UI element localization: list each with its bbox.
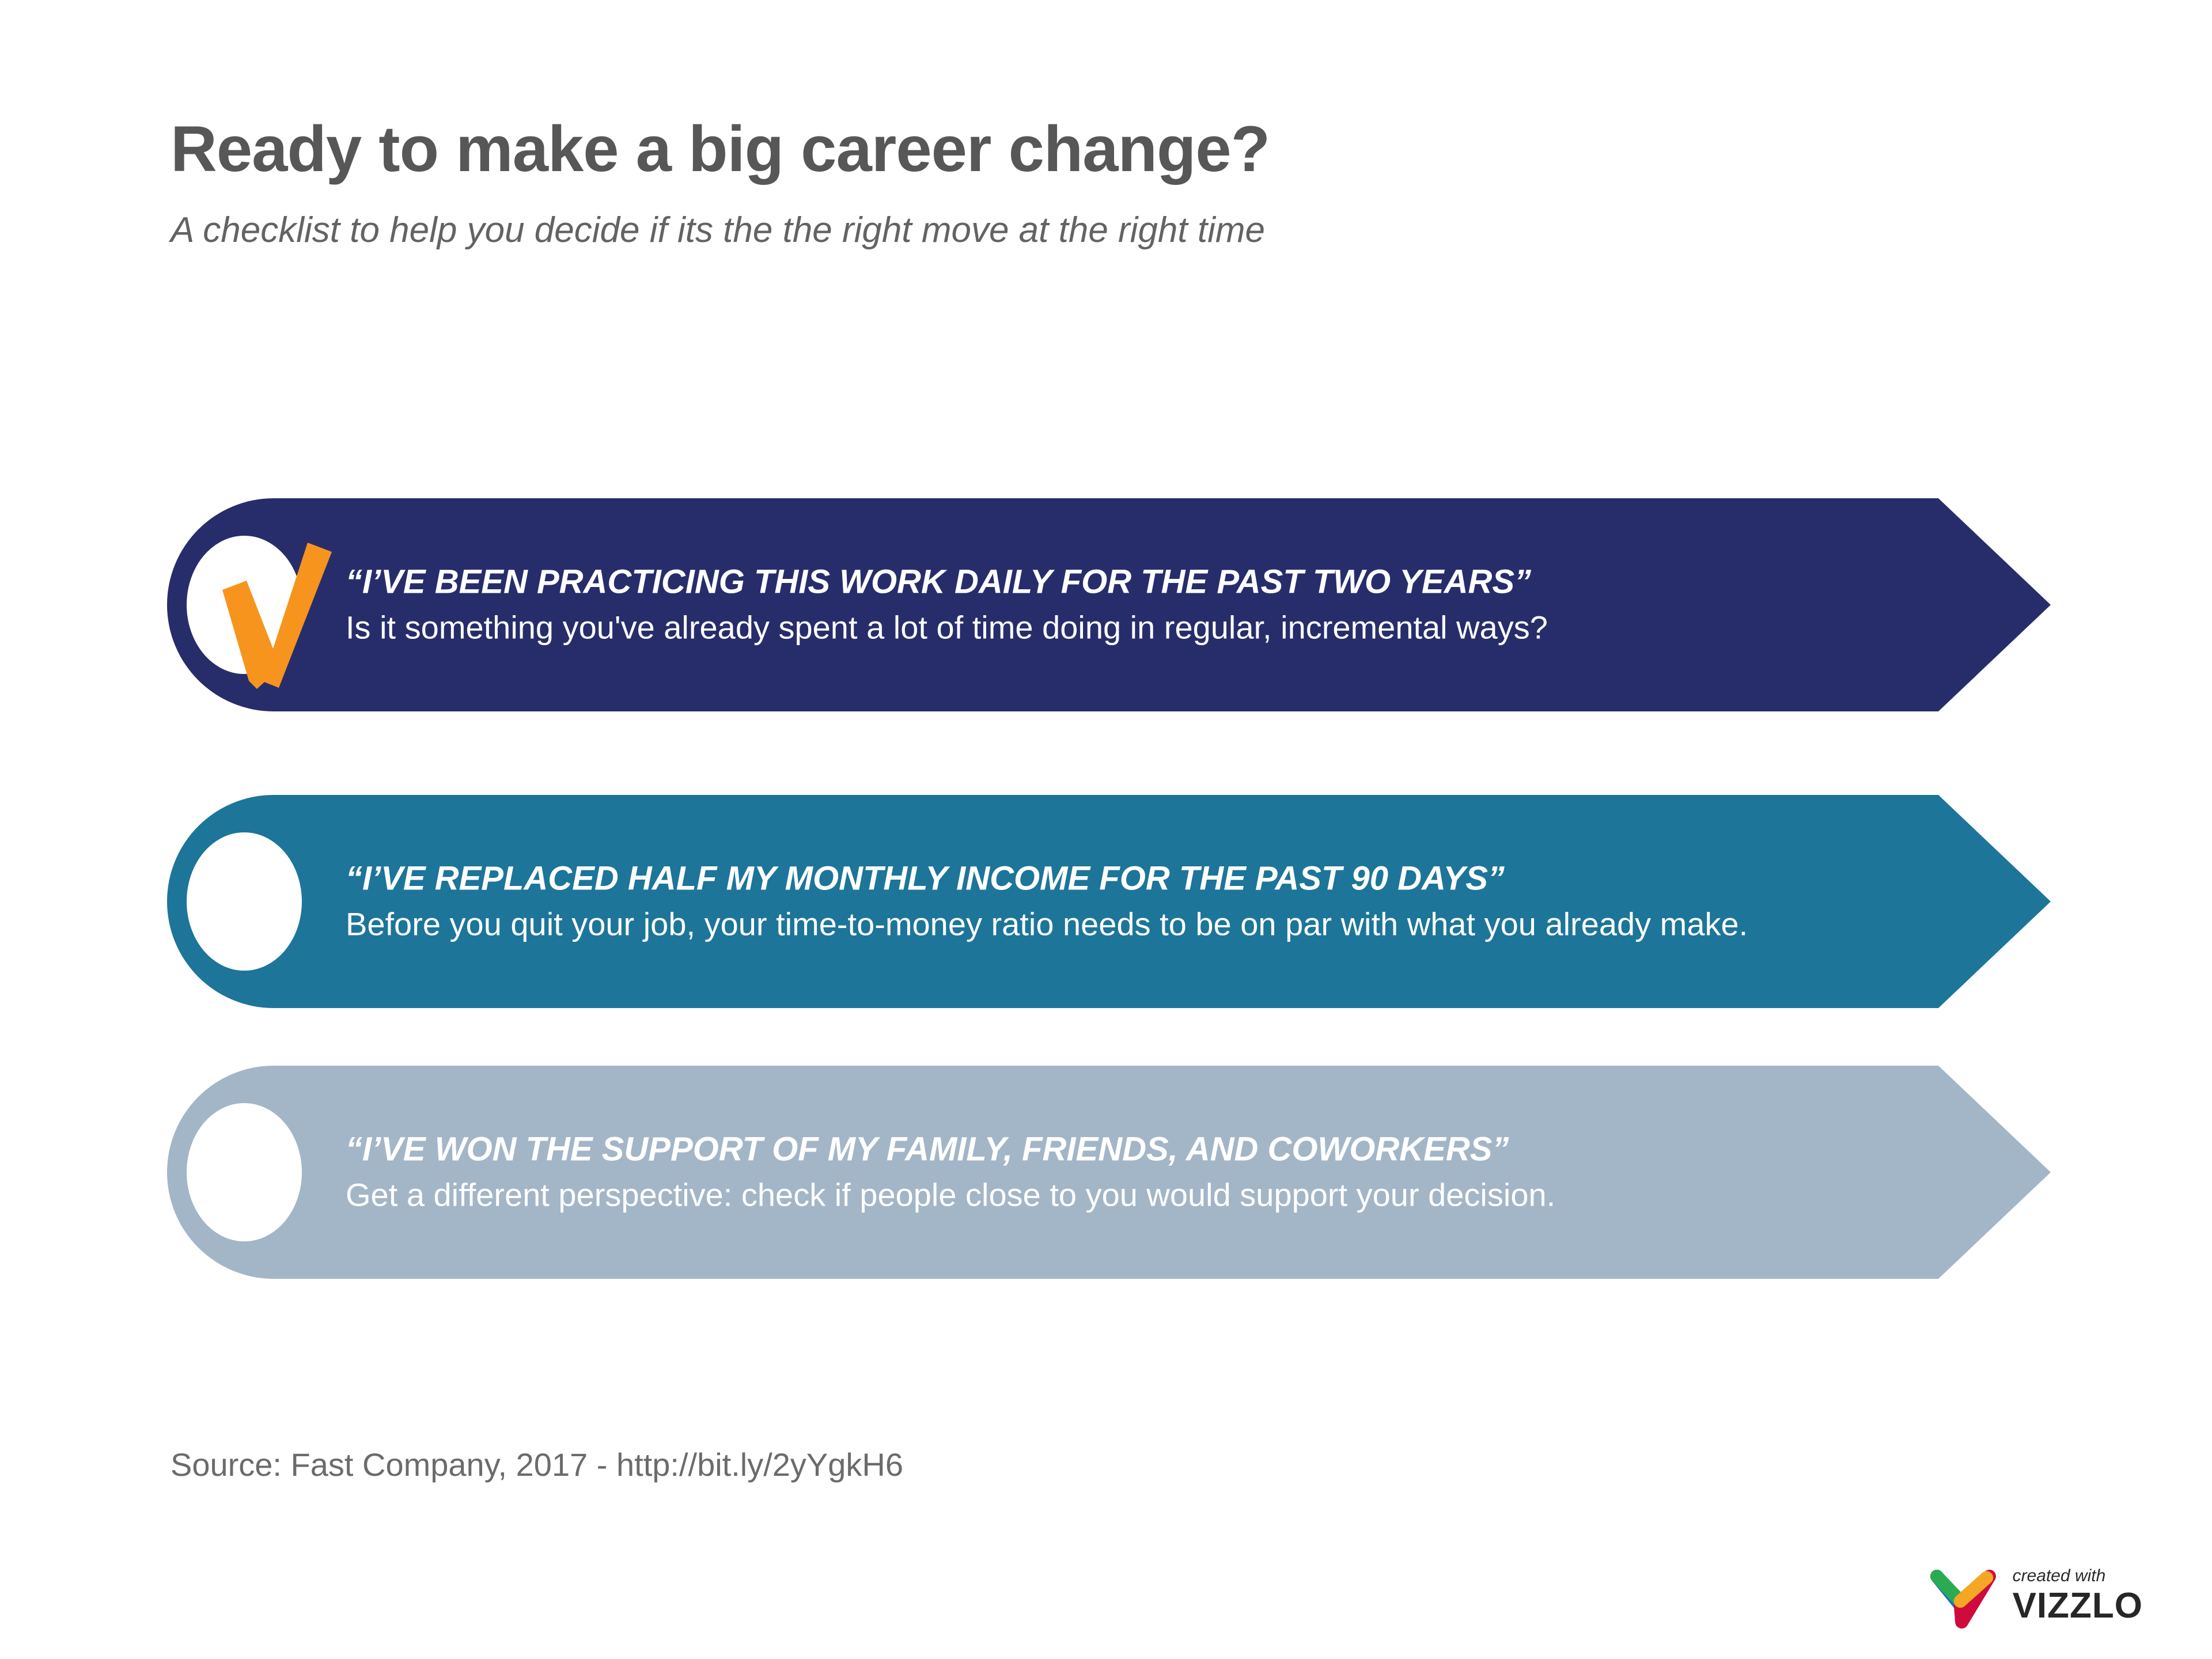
- checklist: “I’VE BEEN PRACTICING THIS WORK DAILY FO…: [0, 0, 2212, 1659]
- checklist-item-text: “I’VE BEEN PRACTICING THIS WORK DAILY FO…: [346, 563, 2016, 646]
- vizzlo-created-with-label: created with: [2013, 1567, 2143, 1588]
- checklist-item-description: Get a different perspective: check if pe…: [346, 1168, 2016, 1213]
- vizzlo-brand-label: VIZZLO: [2013, 1588, 2143, 1624]
- checkbox-circle[interactable]: [187, 832, 302, 971]
- checklist-item-description: Before you quit your job, your time-to-m…: [346, 897, 2016, 942]
- vizzlo-wordmark: created with VIZZLO: [2013, 1567, 2143, 1624]
- source-note: Source: Fast Company, 2017 - http://bit.…: [171, 1446, 903, 1483]
- checklist-item[interactable]: “I’VE REPLACED HALF MY MONTHLY INCOME FO…: [167, 795, 2051, 1008]
- checklist-item-text: “I’VE REPLACED HALF MY MONTHLY INCOME FO…: [346, 860, 2016, 942]
- checkbox-circle[interactable]: [187, 1103, 302, 1241]
- checkbox-circle[interactable]: [187, 536, 302, 674]
- vizzlo-logo: created with VIZZLO: [1929, 1561, 2143, 1630]
- checklist-item-description: Is it something you've already spent a l…: [346, 601, 2016, 646]
- checklist-item-headline: “I’VE WON THE SUPPORT OF MY FAMILY, FRIE…: [346, 1131, 2016, 1168]
- checklist-item-text: “I’VE WON THE SUPPORT OF MY FAMILY, FRIE…: [346, 1131, 2016, 1213]
- vizzlo-checkmark-icon: [1929, 1561, 1998, 1630]
- checklist-item[interactable]: “I’VE WON THE SUPPORT OF MY FAMILY, FRIE…: [167, 1066, 2051, 1279]
- checklist-item-headline: “I’VE REPLACED HALF MY MONTHLY INCOME FO…: [346, 860, 2016, 897]
- checklist-item-headline: “I’VE BEEN PRACTICING THIS WORK DAILY FO…: [346, 563, 2016, 601]
- checklist-item[interactable]: “I’VE BEEN PRACTICING THIS WORK DAILY FO…: [167, 498, 2051, 711]
